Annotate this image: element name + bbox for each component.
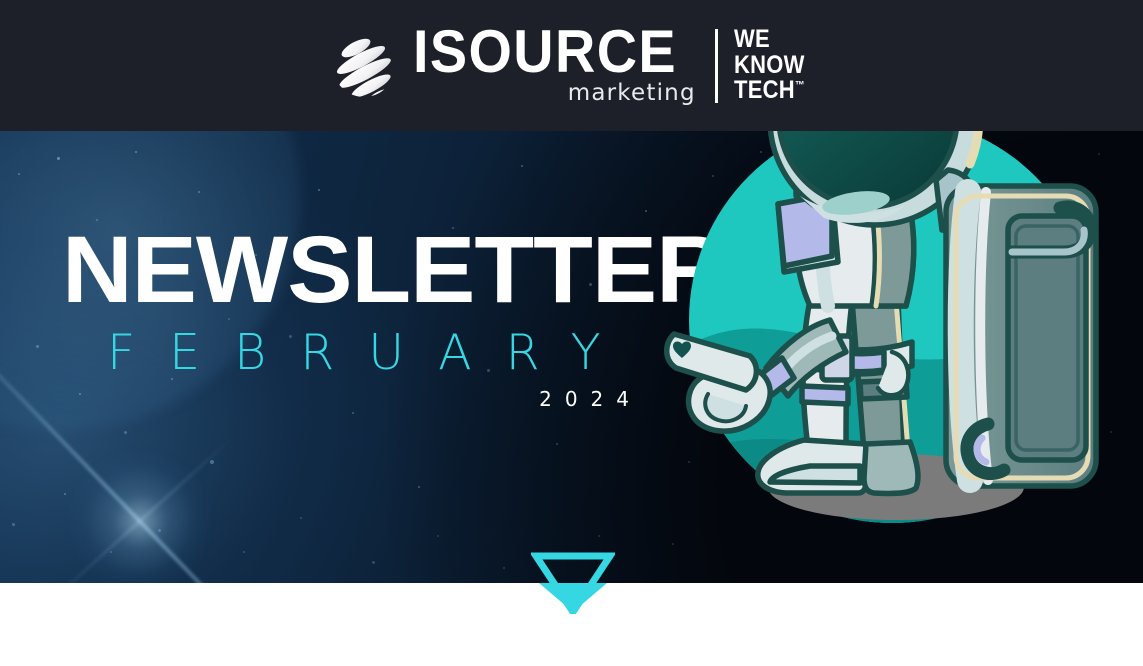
tagline-line-3: TECH™: [734, 78, 805, 104]
tagline-line-2: KNOW: [734, 53, 805, 79]
star-speck: [521, 165, 523, 167]
hero-year-label: 2024: [62, 389, 642, 409]
star-speck: [64, 493, 66, 495]
header-bar: ISOURCE marketing WE KNOW TECH™: [0, 0, 1143, 131]
star-speck: [198, 191, 200, 193]
page-title: NEWSLETTER: [62, 227, 726, 314]
brand-lockup[interactable]: ISOURCE marketing WE KNOW TECH™: [329, 18, 814, 114]
star-speck: [210, 460, 214, 464]
star-speck: [243, 551, 245, 553]
hero-month-label: FEBRUARY: [107, 328, 706, 377]
jetpack: [946, 186, 1096, 486]
star-speck: [318, 189, 320, 191]
scroll-down-triangle[interactable]: [531, 552, 615, 614]
brand-divider: [715, 29, 718, 103]
brand-wordmark: ISOURCE marketing: [413, 26, 697, 106]
star-speck: [556, 443, 558, 445]
brand-secondary-text: marketing: [568, 82, 696, 105]
brand-primary-text: ISOURCE: [413, 26, 677, 79]
star-speck: [418, 486, 420, 488]
star-speck: [57, 157, 60, 160]
star-speck: [437, 535, 439, 537]
star-speck: [645, 210, 647, 212]
hero-title-block: NEWSLETTER FEBRUARY 2024: [62, 227, 706, 409]
tagline-we-know-tech: WE KNOW TECH™: [734, 27, 805, 104]
globe-icon: [329, 31, 399, 101]
star-speck: [135, 151, 137, 153]
star-speck: [12, 523, 15, 526]
star-speck: [158, 529, 161, 532]
star-speck: [352, 412, 354, 414]
tagline-line-1: WE: [734, 27, 805, 53]
star-speck: [36, 345, 39, 348]
star-speck: [124, 431, 127, 434]
trademark-symbol: ™: [795, 80, 805, 92]
star-speck: [300, 517, 302, 519]
lens-flare-core: [65, 446, 215, 583]
boot-right: [864, 442, 918, 493]
star-speck: [598, 535, 600, 537]
star-speck: [503, 567, 505, 569]
star-speck: [672, 543, 674, 545]
star-speck: [110, 551, 112, 553]
newsletter-banner: ISOURCE marketing WE KNOW TECH™ NEWSLETT…: [0, 0, 1143, 666]
star-speck: [18, 173, 20, 175]
lens-flare-streak-cross: [46, 437, 233, 583]
star-speck: [372, 561, 375, 564]
tagline-line-3-text: TECH: [734, 76, 795, 104]
